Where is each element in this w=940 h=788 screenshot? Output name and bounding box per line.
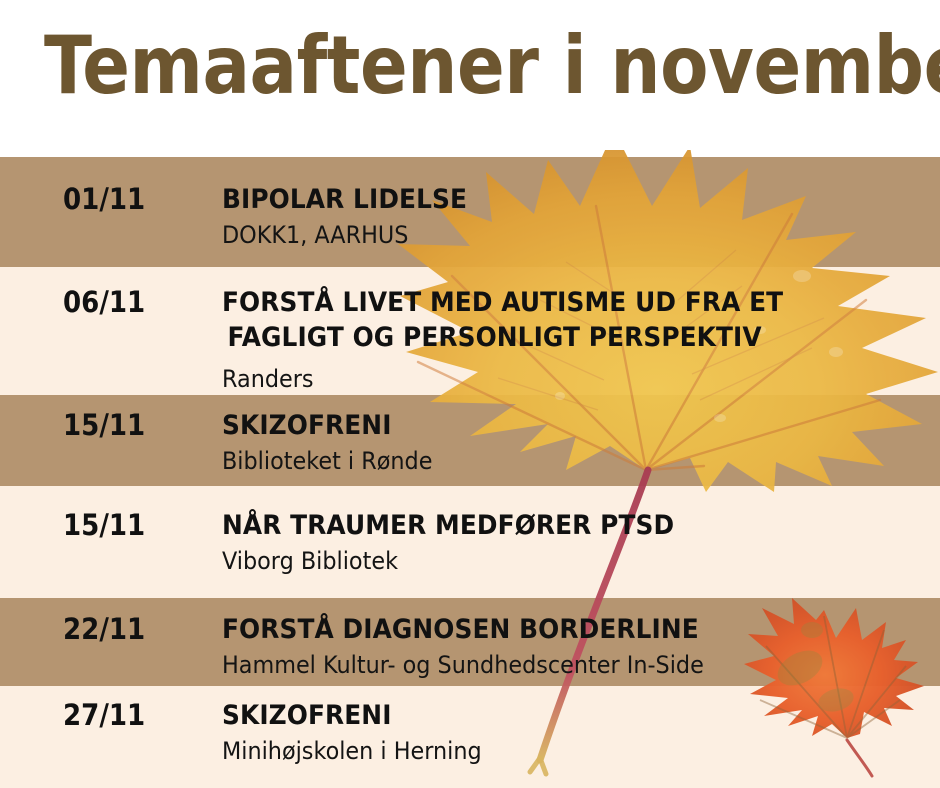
event-title: NÅR TRAUMER MEDFØRER PTSD: [222, 508, 866, 543]
event-date: 22/11: [63, 612, 145, 646]
event-title-line1: SKIZOFRENI: [222, 700, 392, 731]
event-title-line1: NÅR TRAUMER MEDFØRER PTSD: [222, 510, 674, 541]
event-venue: Minihøjskolen i Herning: [222, 735, 873, 767]
page-title: Temaaftener i november: [44, 18, 940, 114]
event-date: 27/11: [63, 698, 145, 732]
event-venue: DOKK1, AARHUS: [222, 219, 873, 251]
event-date: 06/11: [63, 285, 145, 319]
event-venue: Hammel Kultur- og Sundhedscenter In-Side: [222, 649, 873, 681]
event-title-line1: BIPOLAR LIDELSE: [222, 184, 467, 215]
event-venue: Randers: [222, 363, 873, 395]
event-date: 15/11: [63, 408, 145, 442]
event-text-block: BIPOLAR LIDELSE DOKK1, AARHUS: [222, 182, 922, 251]
event-text-block: SKIZOFRENI Biblioteket i Rønde: [222, 408, 922, 477]
event-title-line1: SKIZOFRENI: [222, 410, 392, 441]
event-text-block: SKIZOFRENI Minihøjskolen i Herning: [222, 698, 922, 767]
event-title: FORSTÅ LIVET MED AUTISME UD FRA ET FAGLI…: [222, 285, 866, 355]
event-text-block: FORSTÅ DIAGNOSEN BORDERLINE Hammel Kultu…: [222, 612, 922, 681]
event-title: SKIZOFRENI: [222, 408, 866, 443]
event-date: 01/11: [63, 182, 145, 216]
event-title: BIPOLAR LIDELSE: [222, 182, 866, 217]
event-title: FORSTÅ DIAGNOSEN BORDERLINE: [222, 612, 866, 647]
event-text-block: NÅR TRAUMER MEDFØRER PTSD Viborg Bibliot…: [222, 508, 922, 577]
poster-header: Temaaftener i november: [0, 0, 940, 150]
poster-canvas: Temaaftener i november 01/11 BIPOLAR LID…: [0, 0, 940, 788]
event-title-line1: FORSTÅ LIVET MED AUTISME UD FRA ET: [222, 287, 783, 318]
event-date: 15/11: [63, 508, 145, 542]
event-title-line1: FORSTÅ DIAGNOSEN BORDERLINE: [222, 614, 699, 645]
event-title: SKIZOFRENI: [222, 698, 866, 733]
event-title-line2: FAGLIGT OG PERSONLIGT PERSPEKTIV: [222, 320, 866, 355]
event-venue: Viborg Bibliotek: [222, 545, 873, 577]
event-text-block: FORSTÅ LIVET MED AUTISME UD FRA ET FAGLI…: [222, 285, 922, 395]
event-venue: Biblioteket i Rønde: [222, 445, 873, 477]
